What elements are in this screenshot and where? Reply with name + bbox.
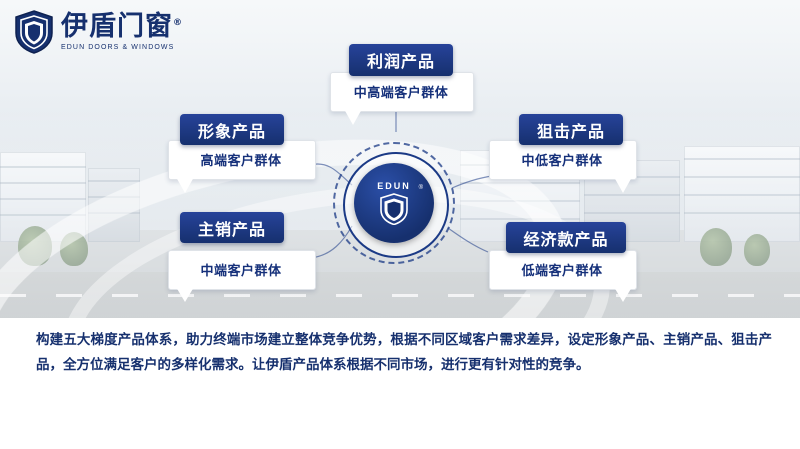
bubble-image-body: 高端客户群体 — [168, 140, 314, 178]
bubble-profit-body: 中高端客户群体 — [330, 72, 472, 110]
footer-paragraph: 构建五大梯度产品体系，助力终端市场建立整体竞争优势，根据不同区域客户需求差异，设… — [36, 328, 772, 378]
emblem-brand-text: EDUN — [377, 181, 411, 191]
bubble-economy-title: 经济款产品 — [506, 222, 626, 253]
bubble-main-title: 主销产品 — [180, 212, 284, 243]
bubble-sniper-title: 狙击产品 — [519, 114, 623, 145]
bubble-sniper-body: 中低客户群体 — [489, 140, 635, 178]
bubble-economy-tail — [614, 287, 632, 302]
bubble-profit-title: 利润产品 — [349, 44, 453, 76]
slide-canvas: 伊盾门窗® EDUN DOORS & WINDOWS EDUN ® 中高端客户群… — [0, 0, 800, 449]
emblem-registered-mark: ® — [419, 185, 423, 191]
shield-emblem-icon: EDUN ® — [354, 163, 434, 243]
bubble-main-tail — [176, 287, 194, 302]
center-emblem: EDUN ® — [333, 142, 455, 264]
footer-panel: 构建五大梯度产品体系，助力终端市场建立整体竞争优势，根据不同区域客户需求差异，设… — [0, 318, 800, 449]
bubble-economy-body: 低端客户群体 — [489, 250, 635, 288]
bubble-sniper-tail — [614, 177, 632, 193]
bubble-image-title: 形象产品 — [180, 114, 284, 145]
bubble-main-body: 中端客户群体 — [168, 250, 314, 288]
bubble-profit-tail — [344, 109, 362, 125]
bubble-image-tail — [176, 177, 194, 193]
